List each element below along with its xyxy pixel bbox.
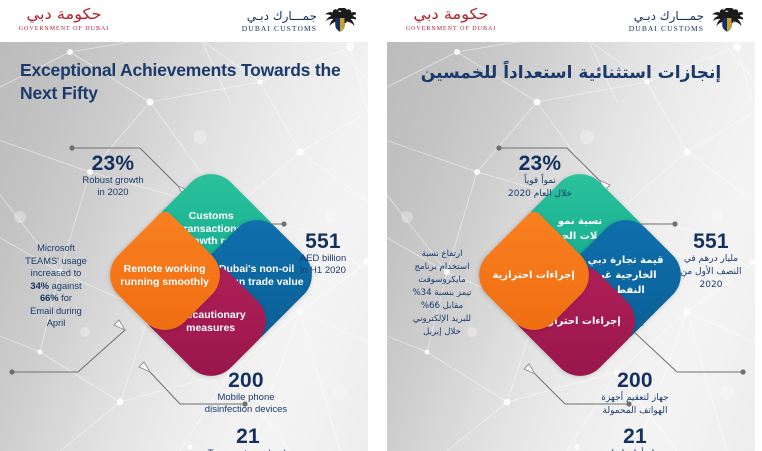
callout-line1: نمواً قوياً [485, 175, 595, 188]
page-title-english: Exceptional Achievements Towards the Nex… [0, 42, 368, 105]
callout-growth-english: 23% Robust growth in 2020 [58, 152, 168, 199]
callout-line3: increased to [4, 267, 108, 280]
dubai-customs-logo-text: جمـــارك دبـي DUBAI CUSTOMS [242, 9, 317, 33]
gov-logo-english: GOVERNMENT OF DUBAI [401, 26, 501, 32]
callout-number: 21 [178, 425, 318, 448]
callout-line5: 66% for [4, 292, 108, 305]
callout-line1: Robust growth [58, 175, 168, 187]
callout-line2: استخدام برنامج [389, 261, 495, 274]
callout-number: 23% [58, 152, 168, 175]
customs-logo-arabic: جمـــارك دبـي [242, 9, 317, 23]
logo-bar-left: حكومة دبي GOVERNMENT OF DUBAI جمـــارك د… [0, 0, 368, 42]
callout-stat-66: 66% [40, 293, 59, 303]
callout-line4: تيمز بنسبة 34% [389, 287, 495, 300]
dubai-customs-logo: جمـــارك دبـي DUBAI CUSTOMS [629, 6, 743, 36]
callout-kiosks-arabic: 21 محطة أمان لقياس درجة الحرارة [569, 425, 701, 451]
callout-line5-rest: for [61, 293, 72, 303]
petal-cluster-arabic: نسبة نمو المعاملات الجمركية قيمة تجارة د… [487, 182, 673, 368]
callout-devices-english: 200 Mobile phone disinfection devices [185, 369, 307, 416]
customs-logo-english: DUBAI CUSTOMS [242, 24, 317, 33]
dubai-customs-logo: جمـــارك دبـي DUBAI CUSTOMS [242, 6, 356, 36]
callout-line7: خلال إبريل [389, 326, 495, 339]
callout-line1: مليار درهم في [669, 253, 753, 266]
customs-logo-arabic: جمـــارك دبـي [629, 9, 704, 23]
callout-line2: in H1 2020 [278, 265, 368, 277]
callout-stat-34: 34% [30, 281, 49, 291]
government-of-dubai-logo: حكومة دبي GOVERNMENT OF DUBAI [14, 4, 114, 32]
petal-cluster-english: Customs transactions growth rate Dubai's… [118, 182, 304, 368]
callout-devices-arabic: 200 جهاز لتعقيم أجهزة الهواتف المحمولة [569, 369, 701, 418]
callout-line2: disinfection devices [185, 404, 307, 416]
callout-line1: Microsoft [4, 242, 108, 255]
callout-number: 23% [485, 152, 595, 175]
panel-english: حكومة دبي GOVERNMENT OF DUBAI جمـــارك د… [0, 0, 368, 451]
page-title-arabic: إنجازات استثنائية استعداداً للخمسين [387, 42, 755, 86]
callout-line1: جهاز لتعقيم أجهزة [569, 392, 701, 405]
callout-line1: AED billion [278, 253, 368, 265]
callout-teams-english: Microsoft TEAMS' usage increased to 34% … [4, 242, 108, 330]
petal-label: Remote working running smoothly [118, 263, 212, 288]
callout-line2: in 2020 [58, 187, 168, 199]
infographic-pair: حكومة دبي GOVERNMENT OF DUBAI جمـــارك د… [0, 0, 762, 451]
callout-teams-arabic: ارتفاع نسبة استخدام برنامج مايكروسوفت تي… [389, 248, 495, 339]
petal-label: إجراءات احترازية [487, 268, 581, 283]
dubai-customs-logo-text: جمـــارك دبـي DUBAI CUSTOMS [629, 9, 704, 33]
callout-kiosks-english: 21 Temperature check kiosks - safe stati… [178, 425, 318, 451]
callout-line3: 2020 [669, 279, 753, 292]
gov-logo-arabic: حكومة دبي [10, 4, 118, 24]
gov-logo-arabic: حكومة دبي [397, 4, 505, 24]
canvas-english: Exceptional Achievements Towards the Nex… [0, 42, 368, 451]
callout-line3: مايكروسوفت [389, 274, 495, 287]
government-of-dubai-logo: حكومة دبي GOVERNMENT OF DUBAI [401, 4, 501, 32]
callout-line6: للبريد الإلكتروني [389, 313, 495, 326]
callout-line2: TEAMS' usage [4, 255, 108, 268]
callout-line1: Mobile phone [185, 392, 307, 404]
callout-line4: 34% against [4, 280, 108, 293]
callout-trade-arabic: 551 مليار درهم في النصف الأول من 2020 [669, 230, 753, 292]
logo-bar-right: حكومة دبي GOVERNMENT OF DUBAI جمـــارك د… [387, 0, 755, 42]
callout-line1: ارتفاع نسبة [389, 248, 495, 261]
callout-line7: April [4, 317, 108, 330]
callout-number: 551 [278, 230, 368, 253]
customs-logo-english: DUBAI CUSTOMS [629, 24, 704, 33]
callout-line2: النصف الأول من [669, 266, 753, 279]
falcon-shield-icon [324, 6, 356, 36]
callout-line2: خلال العام 2020 [485, 188, 595, 201]
gov-logo-english: GOVERNMENT OF DUBAI [14, 26, 114, 32]
callout-line6: Email during [4, 305, 108, 318]
callout-number: 200 [569, 369, 701, 392]
callout-number: 21 [569, 425, 701, 448]
callout-line2: الهواتف المحمولة [569, 405, 701, 418]
callout-number: 200 [185, 369, 307, 392]
canvas-arabic: إنجازات استثنائية استعداداً للخمسين [387, 42, 755, 451]
callout-trade-english: 551 AED billion in H1 2020 [278, 230, 368, 277]
panel-arabic: حكومة دبي GOVERNMENT OF DUBAI جمـــارك د… [387, 0, 755, 451]
callout-line4-rest: against [52, 281, 82, 291]
callout-number: 551 [669, 230, 753, 253]
callout-growth-arabic: 23% نمواً قوياً خلال العام 2020 [485, 152, 595, 201]
callout-line5: مقابل 66% [389, 300, 495, 313]
falcon-shield-icon [711, 6, 743, 36]
